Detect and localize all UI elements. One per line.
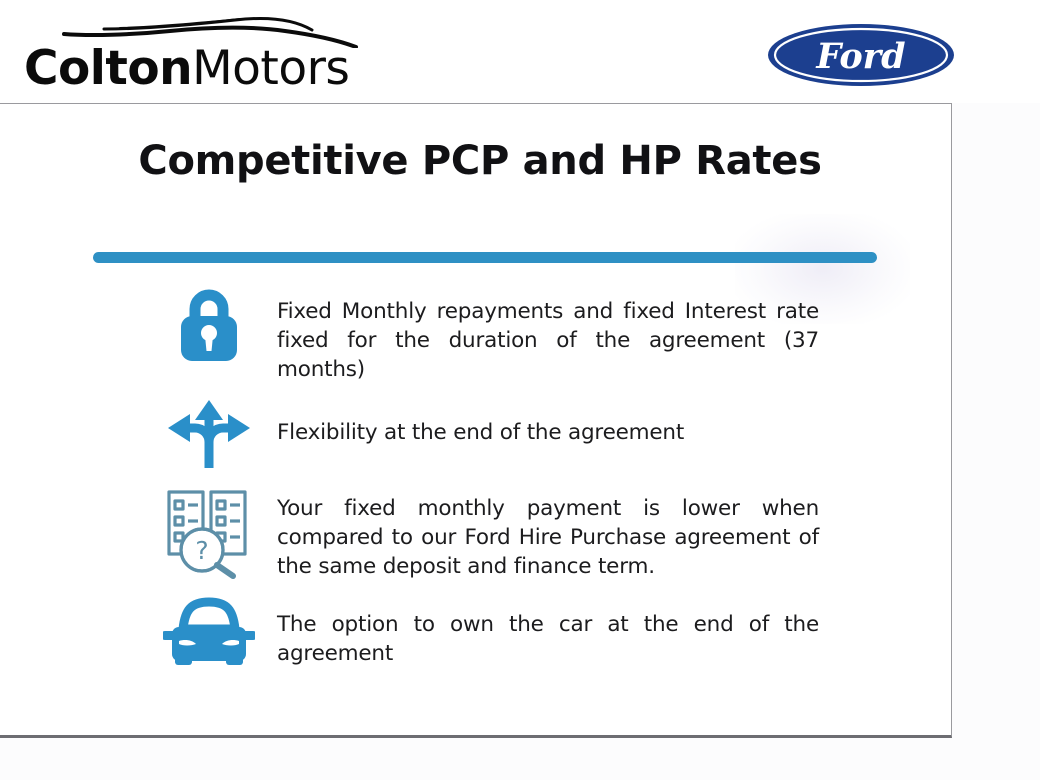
- list-item: ? Your fixed monthly payment is lower wh…: [0, 476, 952, 582]
- svg-text:Ford: Ford: [815, 36, 905, 77]
- brand-wordmark: ColtonMotors: [24, 38, 384, 100]
- car-front-icon: [150, 592, 268, 672]
- slide-canvas: ColtonMotors Ford Competitive PCP and HP…: [0, 0, 1040, 780]
- list-item-label: Fixed Monthly repayments and fixed Inter…: [277, 297, 819, 384]
- list-item: The option to own the car at the end of …: [0, 586, 952, 672]
- colton-motors-logo: ColtonMotors: [24, 6, 384, 102]
- list-item-label: Your fixed monthly payment is lower when…: [277, 494, 819, 581]
- padlock-icon: [150, 281, 268, 367]
- three-way-arrows-icon: [150, 396, 268, 472]
- list-item: Fixed Monthly repayments and fixed Inter…: [0, 279, 952, 384]
- document-comparison-search-icon: ?: [150, 480, 268, 582]
- feature-list: Fixed Monthly repayments and fixed Inter…: [0, 279, 952, 676]
- title-divider-rule: [93, 252, 877, 263]
- page-title: Competitive PCP and HP Rates: [100, 134, 860, 189]
- svg-text:?: ?: [195, 536, 208, 565]
- content-card: Competitive PCP and HP Rates Fixed Month…: [0, 103, 952, 738]
- header-band: ColtonMotors Ford: [0, 0, 1040, 103]
- list-item-label: Flexibility at the end of the agreement: [277, 418, 819, 447]
- brand-name-bold: Colton: [24, 41, 192, 96]
- list-item-label: The option to own the car at the end of …: [277, 610, 819, 668]
- ford-oval-logo-icon: Ford: [766, 22, 956, 88]
- brand-name-light: Motors: [192, 41, 349, 96]
- list-item: Flexibility at the end of the agreement: [0, 388, 952, 472]
